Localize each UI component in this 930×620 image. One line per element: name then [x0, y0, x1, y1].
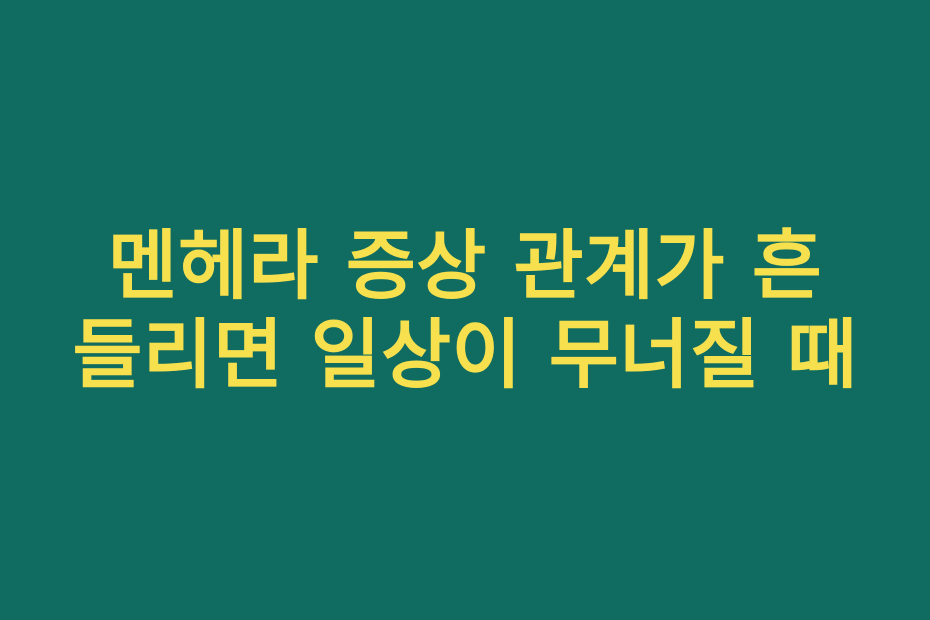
text-banner: 멘헤라 증상 관계가 흔 들리면 일상이 무너질 때: [0, 0, 930, 620]
headline-text: 멘헤라 증상 관계가 흔 들리면 일상이 무너질 때: [0, 223, 930, 397]
headline-line-1: 멘헤라 증상 관계가 흔: [0, 223, 930, 308]
headline-line-2: 들리면 일상이 무너질 때: [0, 312, 930, 397]
